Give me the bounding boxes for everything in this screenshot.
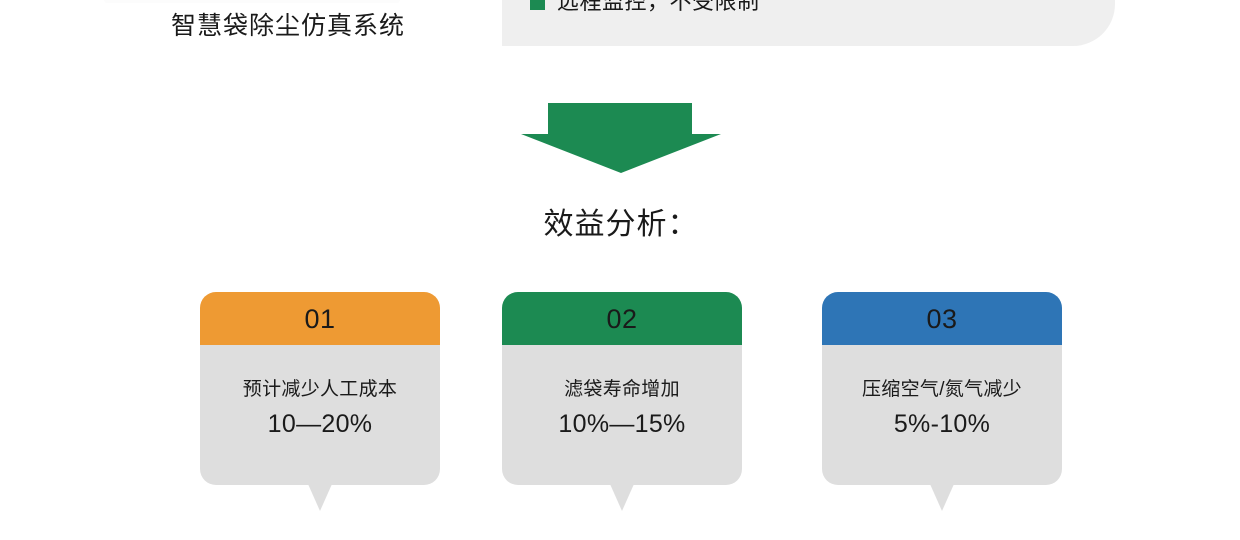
benefit-card-02[interactable]: 02 滤袋寿命增加 10%—15% bbox=[502, 292, 742, 485]
benefit-cards-group: 01 预计减少人工成本 10—20% 02 滤袋寿命增加 10%—15% 03 … bbox=[0, 0, 1240, 540]
benefit-card-value: 10—20% bbox=[268, 407, 373, 441]
benefit-card-body-01: 预计减少人工成本 10—20% bbox=[200, 345, 440, 485]
benefit-card-header-02: 02 bbox=[502, 292, 742, 345]
benefit-card-number: 02 bbox=[606, 304, 637, 334]
benefit-card-value: 10%—15% bbox=[558, 407, 685, 441]
benefit-card-01[interactable]: 01 预计减少人工成本 10—20% bbox=[200, 292, 440, 485]
benefit-card-body-03: 压缩空气/氮气减少 5%-10% bbox=[822, 345, 1062, 485]
benefit-card-label: 压缩空气/氮气减少 bbox=[862, 376, 1022, 403]
benefit-card-tail bbox=[930, 484, 954, 511]
benefit-card-label: 滤袋寿命增加 bbox=[564, 376, 680, 403]
benefit-card-header-01: 01 bbox=[200, 292, 440, 345]
benefit-card-number: 03 bbox=[926, 304, 957, 334]
benefit-card-number: 01 bbox=[304, 304, 335, 334]
benefit-card-tail bbox=[308, 484, 332, 511]
benefit-card-03[interactable]: 03 压缩空气/氮气减少 5%-10% bbox=[822, 292, 1062, 485]
benefit-card-tail bbox=[610, 484, 634, 511]
benefit-card-value: 5%-10% bbox=[894, 407, 990, 441]
benefit-card-body-02: 滤袋寿命增加 10%—15% bbox=[502, 345, 742, 485]
benefit-card-header-03: 03 bbox=[822, 292, 1062, 345]
benefit-card-label: 预计减少人工成本 bbox=[243, 376, 397, 403]
